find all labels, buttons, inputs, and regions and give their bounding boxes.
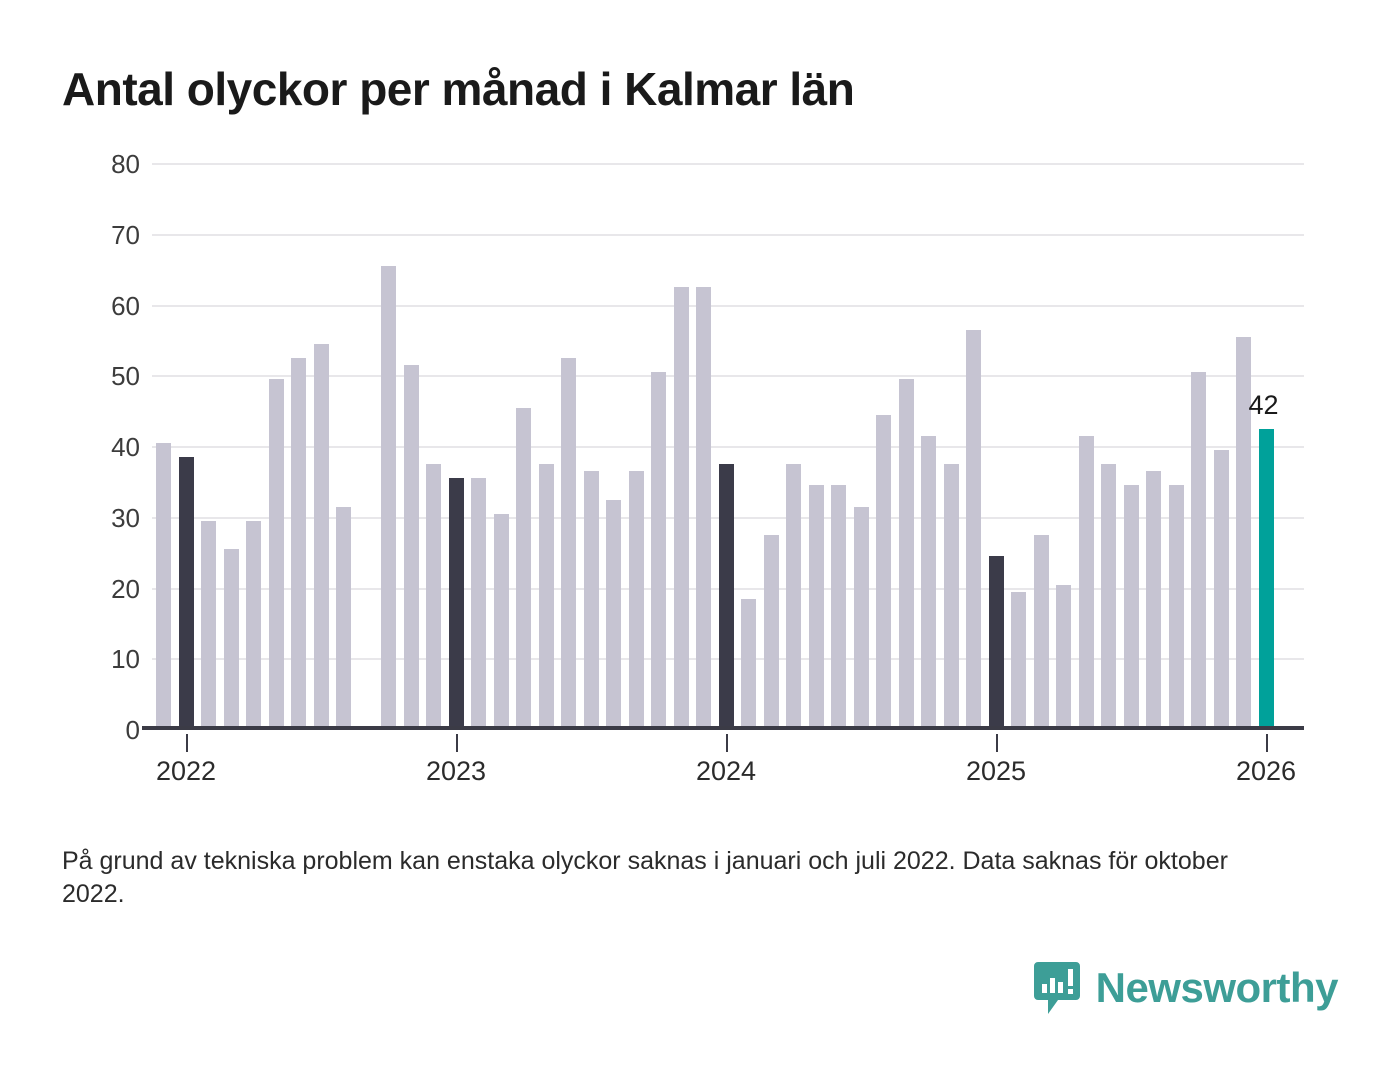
bar[interactable]	[1169, 485, 1184, 726]
brand-name: Newsworthy	[1096, 967, 1338, 1009]
bar[interactable]	[471, 478, 486, 726]
bar-series: 42	[152, 160, 1304, 726]
bar[interactable]	[1011, 592, 1026, 726]
x-tick-label: 2026	[1236, 756, 1296, 787]
y-axis: 01020304050607080	[78, 160, 140, 730]
bar[interactable]	[809, 485, 824, 726]
bar[interactable]	[584, 471, 599, 726]
x-tick	[186, 734, 188, 752]
bar[interactable]	[516, 408, 531, 726]
bar[interactable]	[449, 478, 464, 726]
chart-page: Antal olyckor per månad i Kalmar län 010…	[0, 0, 1400, 1080]
bar[interactable]	[381, 266, 396, 726]
x-tick	[996, 734, 998, 752]
bar[interactable]	[899, 379, 914, 726]
bar[interactable]	[1146, 471, 1161, 726]
grid-area: 42	[152, 160, 1304, 730]
bar[interactable]	[764, 535, 779, 726]
y-tick-label: 80	[111, 151, 140, 177]
bar[interactable]	[561, 358, 576, 726]
x-axis-line	[142, 726, 1304, 730]
y-tick-label: 60	[111, 293, 140, 319]
y-tick-label: 20	[111, 576, 140, 602]
bar[interactable]	[1034, 535, 1049, 726]
bar[interactable]	[426, 464, 441, 726]
y-tick-label: 10	[111, 646, 140, 672]
page-title: Antal olyckor per månad i Kalmar län	[62, 62, 854, 116]
y-tick-label: 30	[111, 505, 140, 531]
bar[interactable]	[1191, 372, 1206, 726]
bar[interactable]	[201, 521, 216, 726]
x-tick	[456, 734, 458, 752]
bar[interactable]	[1214, 450, 1229, 726]
bar[interactable]	[921, 436, 936, 726]
y-tick-label: 50	[111, 363, 140, 389]
bar[interactable]	[854, 507, 869, 726]
bar[interactable]	[831, 485, 846, 726]
bar[interactable]	[494, 514, 509, 726]
bar[interactable]	[1101, 464, 1116, 726]
bar[interactable]	[944, 464, 959, 726]
footer: Newsworthy	[1032, 960, 1338, 1016]
x-tick-label: 2023	[426, 756, 486, 787]
bar[interactable]	[539, 464, 554, 726]
bar[interactable]	[674, 287, 689, 726]
y-tick-label: 70	[111, 222, 140, 248]
bar[interactable]	[336, 507, 351, 726]
bar[interactable]	[786, 464, 801, 726]
bar[interactable]	[291, 358, 306, 726]
bar[interactable]	[246, 521, 261, 726]
bar[interactable]	[179, 457, 194, 726]
bar[interactable]	[1259, 429, 1274, 726]
bar[interactable]	[269, 379, 284, 726]
bar[interactable]	[876, 415, 891, 726]
bar-value-label: 42	[1249, 392, 1279, 419]
bar[interactable]	[651, 372, 666, 726]
y-tick-label: 0	[126, 717, 140, 743]
bar-chart-speech-bubble-icon	[1032, 960, 1082, 1016]
bar[interactable]	[1124, 485, 1139, 726]
bar[interactable]	[1079, 436, 1094, 726]
x-tick	[1266, 734, 1268, 752]
x-axis: 20222023202420252026	[152, 734, 1304, 804]
bar[interactable]	[314, 344, 329, 726]
y-tick-label: 40	[111, 434, 140, 460]
plot-area: 01020304050607080 42 2022202320242025202…	[0, 160, 1400, 740]
bar[interactable]	[156, 443, 171, 726]
x-tick-label: 2022	[156, 756, 216, 787]
chart-caption: På grund av tekniska problem kan enstaka…	[62, 845, 1292, 911]
bar[interactable]	[629, 471, 644, 726]
bar[interactable]	[404, 365, 419, 726]
bar[interactable]	[719, 464, 734, 726]
bar[interactable]	[741, 599, 756, 726]
bar[interactable]	[966, 330, 981, 726]
x-tick-label: 2024	[696, 756, 756, 787]
bar[interactable]	[606, 500, 621, 726]
bar[interactable]	[224, 549, 239, 726]
bar[interactable]	[1056, 585, 1071, 727]
bar[interactable]	[989, 556, 1004, 726]
x-tick-label: 2025	[966, 756, 1026, 787]
bar[interactable]	[696, 287, 711, 726]
x-tick	[726, 734, 728, 752]
